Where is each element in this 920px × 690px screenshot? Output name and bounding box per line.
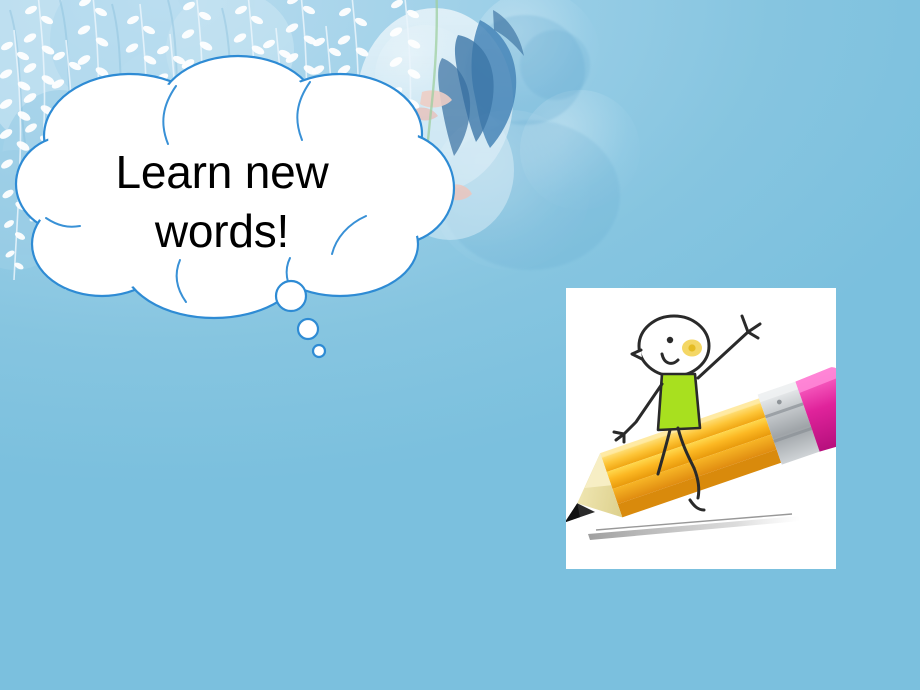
thought-bubble-text: Learn new words! (72, 143, 372, 261)
thought-bubble: Learn new words! (10, 48, 470, 378)
pencil-illustration (566, 288, 836, 569)
figure-shirt (658, 374, 700, 430)
slide-canvas: Learn new words! (0, 0, 920, 690)
figure-eye (667, 337, 673, 343)
